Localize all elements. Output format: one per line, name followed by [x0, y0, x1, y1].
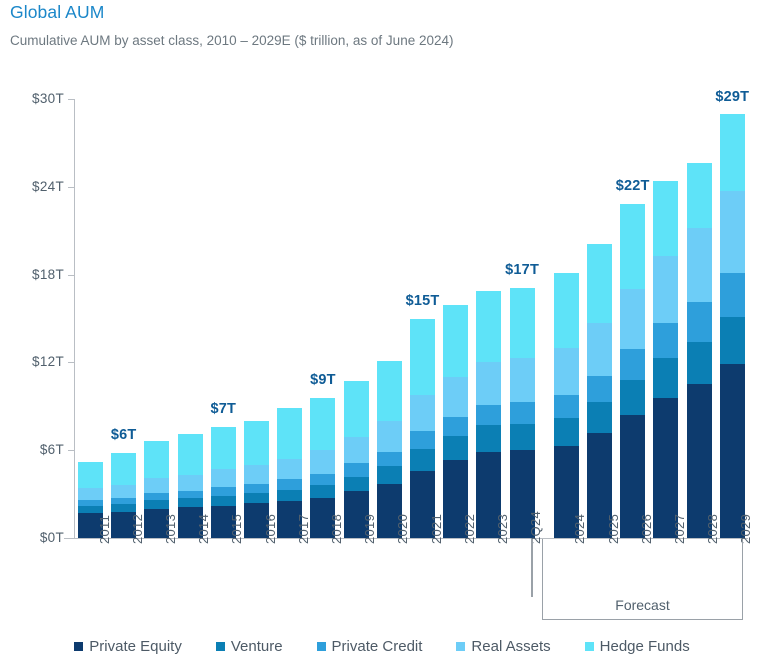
- bar-segment[interactable]: [720, 317, 745, 364]
- legend-item[interactable]: Hedge Funds: [585, 638, 690, 655]
- legend-item-label: Private Equity: [89, 638, 182, 655]
- bar-segment[interactable]: [144, 478, 169, 493]
- y-axis-tick-label-text: $18T: [32, 267, 64, 282]
- bar-segment[interactable]: [653, 358, 678, 398]
- forecast-label: Forecast: [542, 597, 743, 613]
- bar-segment[interactable]: [620, 289, 645, 349]
- bar-segment[interactable]: [476, 291, 501, 363]
- bar-segment[interactable]: [211, 469, 236, 487]
- bar-segment[interactable]: [310, 450, 335, 473]
- y-axis-tick: [68, 538, 75, 539]
- x-axis-tick-label: 2016: [263, 514, 278, 544]
- bar-segment[interactable]: [111, 504, 136, 511]
- bar-segment[interactable]: [554, 348, 579, 395]
- y-axis-tick: [68, 275, 75, 276]
- bar-segment[interactable]: [620, 380, 645, 415]
- bar-segment[interactable]: [510, 402, 535, 424]
- bar-segment[interactable]: [310, 398, 335, 451]
- legend-swatch-icon: [585, 642, 594, 651]
- bar-segment[interactable]: [377, 421, 402, 452]
- bar-segment[interactable]: [377, 361, 402, 421]
- bar-segment[interactable]: [587, 376, 612, 402]
- bar-segment[interactable]: [310, 485, 335, 498]
- bar-segment[interactable]: [344, 437, 369, 463]
- bar-segment[interactable]: [443, 377, 468, 417]
- bar-segment[interactable]: [510, 424, 535, 450]
- bar-segment[interactable]: [144, 500, 169, 509]
- bar-segment[interactable]: [587, 244, 612, 323]
- x-axis-tick-label: 2022: [462, 514, 477, 544]
- bar-total-label: $29T: [702, 89, 762, 105]
- y-axis-tick-label: $30T: [0, 91, 64, 107]
- bar-segment[interactable]: [111, 498, 136, 504]
- bar-segment[interactable]: [78, 500, 103, 506]
- bar-segment[interactable]: [211, 427, 236, 469]
- y-axis-tick: [68, 187, 75, 188]
- bar-segment[interactable]: [687, 228, 712, 303]
- bar-segment[interactable]: [211, 496, 236, 506]
- bar-segment[interactable]: [244, 493, 269, 503]
- bar-segment[interactable]: [554, 395, 579, 418]
- bar-segment[interactable]: [277, 479, 302, 489]
- legend-swatch-icon: [317, 642, 326, 651]
- bar-segment[interactable]: [344, 477, 369, 492]
- bar-segment[interactable]: [410, 395, 435, 432]
- bar-segment[interactable]: [510, 288, 535, 358]
- bar-segment[interactable]: [510, 358, 535, 402]
- y-axis-tick-label: $12T: [0, 354, 64, 370]
- stacked-bar[interactable]: [554, 273, 579, 538]
- legend-item-label: Real Assets: [471, 638, 550, 655]
- bar-segment[interactable]: [443, 417, 468, 436]
- x-axis-tick-label: 2012: [130, 514, 145, 544]
- bar-segment[interactable]: [111, 485, 136, 498]
- bar-segment[interactable]: [653, 323, 678, 358]
- x-axis-tick-label: 2019: [362, 514, 377, 544]
- bar-segment[interactable]: [443, 305, 468, 377]
- y-axis-tick-label: $0T: [0, 530, 64, 546]
- y-axis-tick-label-text: $24T: [32, 179, 64, 194]
- y-axis-tick-label-text: $12T: [32, 354, 64, 369]
- stacked-bar[interactable]: [653, 181, 678, 538]
- bar-segment[interactable]: [178, 491, 203, 498]
- bar-total-label: $17T: [492, 262, 552, 278]
- bar-segment[interactable]: [620, 349, 645, 380]
- y-axis-tick: [68, 450, 75, 451]
- x-axis-tick-label: 2011: [97, 515, 112, 544]
- legend-item[interactable]: Private Credit: [317, 638, 423, 655]
- x-axis-tick-label: 2018: [329, 514, 344, 544]
- bar-segment[interactable]: [178, 475, 203, 491]
- bar-segment[interactable]: [78, 506, 103, 513]
- bar-segment[interactable]: [720, 273, 745, 317]
- bar-segment[interactable]: [277, 490, 302, 502]
- y-axis-tick-label: $6T: [0, 442, 64, 458]
- bar-segment[interactable]: [244, 421, 269, 465]
- y-axis-line: [74, 99, 75, 539]
- legend-item-label: Private Credit: [332, 638, 423, 655]
- bar-segment[interactable]: [653, 181, 678, 256]
- x-axis-tick-label: 2013: [163, 514, 178, 544]
- bar-segment[interactable]: [653, 256, 678, 323]
- bar-segment[interactable]: [377, 466, 402, 484]
- bar-segment[interactable]: [720, 191, 745, 273]
- bar-segment[interactable]: [687, 302, 712, 342]
- legend-item-label: Venture: [231, 638, 283, 655]
- chart-page: Global AUM Cumulative AUM by asset class…: [0, 0, 764, 670]
- bar-segment[interactable]: [620, 204, 645, 289]
- bar-segment[interactable]: [178, 434, 203, 475]
- bar-segment[interactable]: [310, 474, 335, 486]
- stacked-bar[interactable]: [620, 204, 645, 538]
- bar-segment[interactable]: [410, 319, 435, 395]
- bar-segment[interactable]: [277, 459, 302, 479]
- x-axis-tick-label: 2017: [296, 514, 311, 544]
- bar-segment[interactable]: [720, 364, 745, 538]
- y-axis-tick-label-text: $6T: [40, 442, 64, 457]
- plot-area: $0T$6T$12T$18T$24T$30T $6T$7T$9T$15T$17T…: [0, 0, 764, 670]
- y-axis-tick: [68, 99, 75, 100]
- bar-segment[interactable]: [244, 465, 269, 484]
- bar-segment[interactable]: [377, 452, 402, 467]
- stacked-bar[interactable]: [443, 305, 468, 538]
- y-axis-tick-label: $18T: [0, 267, 64, 283]
- bar-segment[interactable]: [111, 453, 136, 485]
- bar-segment[interactable]: [78, 462, 103, 488]
- bar-segment[interactable]: [476, 362, 501, 404]
- stacked-bar[interactable]: [377, 361, 402, 538]
- bar-segment[interactable]: [410, 449, 435, 471]
- bar-segment[interactable]: [476, 425, 501, 451]
- bar-segment[interactable]: [476, 405, 501, 425]
- forecast-divider: [531, 539, 533, 597]
- bar-segment[interactable]: [554, 273, 579, 348]
- x-axis-tick-label: 2021: [429, 514, 444, 544]
- bar-segment[interactable]: [554, 418, 579, 446]
- stacked-bar[interactable]: [476, 291, 501, 538]
- bar-segment[interactable]: [587, 402, 612, 433]
- x-axis-tick-label: 2023: [495, 514, 510, 544]
- bar-segment[interactable]: [587, 323, 612, 376]
- bar-segment[interactable]: [277, 408, 302, 459]
- stacked-bar[interactable]: [687, 163, 712, 538]
- stacked-bar[interactable]: [510, 288, 535, 538]
- bar-segment[interactable]: [344, 381, 369, 437]
- y-axis-tick-label-text: $30T: [32, 91, 64, 106]
- bar-segment[interactable]: [244, 484, 269, 493]
- x-axis-tick-label: 2020: [395, 514, 410, 544]
- bar-segment[interactable]: [178, 498, 203, 507]
- bar-segment[interactable]: [144, 493, 169, 500]
- bar-segment[interactable]: [687, 163, 712, 227]
- bar-segment[interactable]: [78, 488, 103, 500]
- stacked-bar[interactable]: [410, 319, 435, 539]
- stacked-bar[interactable]: [587, 244, 612, 538]
- legend-swatch-icon: [456, 642, 465, 651]
- x-axis-tick-label: 2015: [229, 514, 244, 544]
- x-axis-tick-label: 2014: [196, 514, 211, 544]
- bar-segment[interactable]: [211, 487, 236, 496]
- stacked-bar[interactable]: [720, 115, 745, 538]
- bar-segment[interactable]: [410, 431, 435, 449]
- y-axis-tick-label: $24T: [0, 179, 64, 195]
- chart-legend: Private EquityVenturePrivate CreditReal …: [0, 638, 764, 655]
- legend-item[interactable]: Venture: [216, 638, 283, 655]
- y-axis-tick: [68, 362, 75, 363]
- bar-segment[interactable]: [443, 436, 468, 461]
- bar-segment[interactable]: [720, 114, 745, 192]
- bar-segment[interactable]: [687, 342, 712, 384]
- legend-swatch-icon: [216, 642, 225, 651]
- legend-item-label: Hedge Funds: [600, 638, 690, 655]
- bar-segment[interactable]: [144, 441, 169, 478]
- y-axis-tick-label-text: $0T: [40, 530, 64, 545]
- legend-item[interactable]: Real Assets: [456, 638, 550, 655]
- bar-segment[interactable]: [344, 463, 369, 476]
- bar-total-label: $7T: [193, 401, 253, 417]
- legend-swatch-icon: [74, 642, 83, 651]
- legend-item[interactable]: Private Equity: [74, 638, 182, 655]
